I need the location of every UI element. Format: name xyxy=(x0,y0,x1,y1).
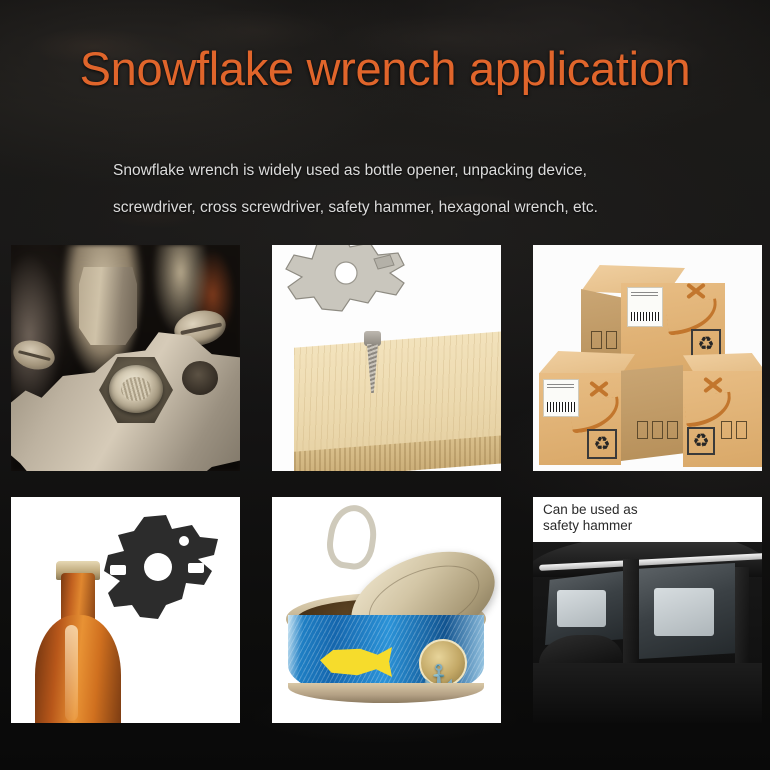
handling-icon xyxy=(637,421,648,439)
bottle-highlight xyxy=(65,625,78,721)
tile-caption: Can be used as safety hammer xyxy=(533,497,762,542)
handling-icons-left xyxy=(637,421,678,439)
barcode xyxy=(631,312,660,322)
car-c-pillar xyxy=(735,567,749,663)
wrench-round-hole xyxy=(182,361,218,395)
can-pull-tab xyxy=(324,502,380,572)
smiley-arrow-mark-left xyxy=(571,387,617,427)
page-subtitle: Snowflake wrench is widely used as bottl… xyxy=(113,152,688,226)
gallery-tile-screwdriver[interactable]: Snowflake wrench driving a screw into a … xyxy=(272,245,501,471)
box-left-side xyxy=(621,365,683,461)
application-gallery: Snowflake multi-tool wrench fitted over … xyxy=(11,245,759,723)
bolt-head xyxy=(109,365,163,413)
smiley-arrow-mark-upper xyxy=(667,289,715,329)
wood-screw xyxy=(364,331,381,393)
handling-icon xyxy=(667,421,678,439)
car-rear-window xyxy=(639,563,735,659)
shipping-label-upper xyxy=(627,287,663,327)
gallery-tile-hex-bolt[interactable]: Snowflake multi-tool wrench fitted over … xyxy=(11,245,240,471)
handling-icons-upper xyxy=(591,331,617,349)
gallery-tile-boxes[interactable]: ♻ ♻ xyxy=(533,245,762,471)
caption-line-2: safety hammer xyxy=(543,518,762,534)
car-door-body xyxy=(533,663,762,723)
recycle-symbol-right: ♻ xyxy=(687,427,715,455)
window-reflection xyxy=(557,590,605,627)
subtitle-line-2: screwdriver, cross screwdriver, safety h… xyxy=(113,189,688,226)
handling-icons-right xyxy=(721,421,747,439)
page-title: Snowflake wrench application xyxy=(0,44,770,93)
hex-nut xyxy=(79,267,137,345)
car-b-pillar xyxy=(623,559,639,663)
smiley-arrow-mark-right xyxy=(685,383,729,421)
handling-icon xyxy=(606,331,617,349)
caption-line-1: Can be used as xyxy=(543,502,762,518)
recycle-symbol-left: ♻ xyxy=(587,429,617,459)
handling-icon xyxy=(736,421,747,439)
screw-shank xyxy=(367,344,378,393)
snowflake-wrench-black-icon xyxy=(92,513,222,643)
label-text-lines xyxy=(547,384,574,389)
can-bottom-rim xyxy=(288,683,484,703)
label-text-lines xyxy=(631,292,658,297)
handling-icon xyxy=(652,421,663,439)
handling-icon xyxy=(721,421,732,439)
window-reflection xyxy=(654,588,714,636)
subtitle-line-1: Snowflake wrench is widely used as bottl… xyxy=(113,152,688,189)
snowflake-wrench-icon xyxy=(272,245,428,345)
car-front-window xyxy=(545,571,623,645)
handling-icon xyxy=(591,331,602,349)
gallery-tile-safety-hammer[interactable]: Can be used as safety hammer Side window… xyxy=(533,497,762,723)
gallery-tile-bottle-opener[interactable]: Black snowflake multi-tool opening a bro… xyxy=(11,497,240,723)
gallery-tile-can-opener[interactable]: ⚓ Opened tuna can with blue label, yello… xyxy=(272,497,501,723)
promo-banner: Snowflake wrench application Snowflake w… xyxy=(0,0,770,770)
screw-head xyxy=(364,331,381,346)
